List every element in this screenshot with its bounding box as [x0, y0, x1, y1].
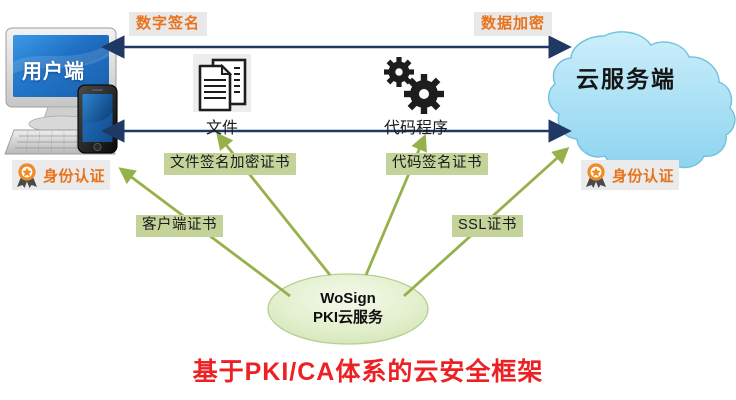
cloud-label: 云服务端 — [576, 60, 676, 94]
flow-label-digital-signature: 数字签名 — [129, 12, 207, 36]
ca-node-label: WoSign PKI云服务 — [278, 289, 418, 327]
award-ribbon-icon — [583, 162, 609, 188]
award-ribbon-icon — [14, 162, 40, 188]
flow-label-data-encryption: 数据加密 — [474, 12, 552, 36]
diagram-canvas: 用户端 云服务端 WoSign PKI云服务 文件 代码程序 数字签名 数据加密… — [0, 0, 736, 400]
cert-label-ssl: SSL证书 — [452, 215, 523, 237]
cert-label-file-signing: 文件签名加密证书 — [164, 153, 296, 175]
cert-label-code-signing: 代码签名证书 — [386, 153, 488, 175]
ca-node-line2: PKI云服务 — [278, 308, 418, 327]
badge-identity-auth-cloud: 身份认证 — [581, 160, 679, 190]
badge-identity-auth-cloud-label: 身份认证 — [612, 165, 674, 186]
badge-identity-auth-client-label: 身份认证 — [43, 165, 105, 186]
cert-label-client: 客户端证书 — [136, 215, 223, 237]
code-icon-label: 代码程序 — [384, 114, 448, 138]
file-icon-label: 文件 — [206, 114, 238, 138]
ca-node-line1: WoSign — [278, 289, 418, 308]
client-label: 用户端 — [22, 55, 85, 84]
badge-identity-auth-client: 身份认证 — [12, 160, 110, 190]
page-title: 基于PKI/CA体系的云安全框架 — [0, 352, 736, 388]
